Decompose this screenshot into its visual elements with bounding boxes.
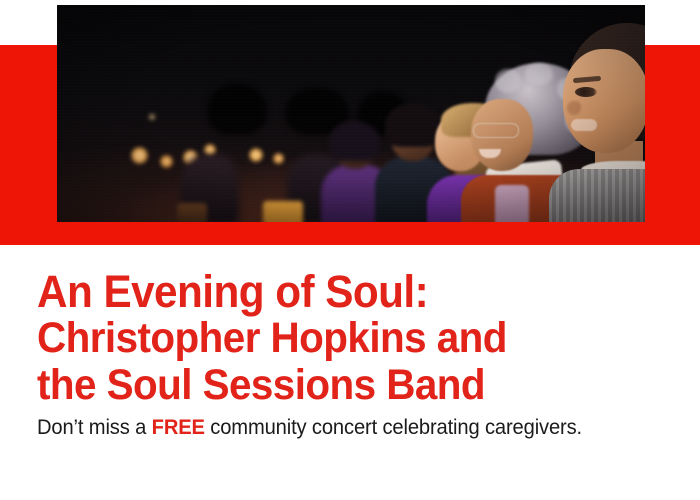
hero-photo <box>57 5 645 222</box>
event-poster: An Evening of Soul: Christopher Hopkins … <box>0 0 700 500</box>
subtitle-free-highlight: FREE <box>152 416 205 439</box>
headline-line-3: the Soul Sessions Band <box>37 362 639 409</box>
subtitle: Don’t miss a FREE community concert cele… <box>37 415 651 441</box>
headline-line-2: Christopher Hopkins and <box>37 315 639 362</box>
poster-text-block: An Evening of Soul: Christopher Hopkins … <box>37 268 677 441</box>
subtitle-text-after: community concert celebrating caregivers… <box>205 416 582 439</box>
page-title: An Evening of Soul: Christopher Hopkins … <box>37 268 639 409</box>
photo-vignette-overlay <box>57 5 645 222</box>
headline-line-1: An Evening of Soul: <box>37 268 639 315</box>
subtitle-text-before: Don’t miss a <box>37 416 152 439</box>
